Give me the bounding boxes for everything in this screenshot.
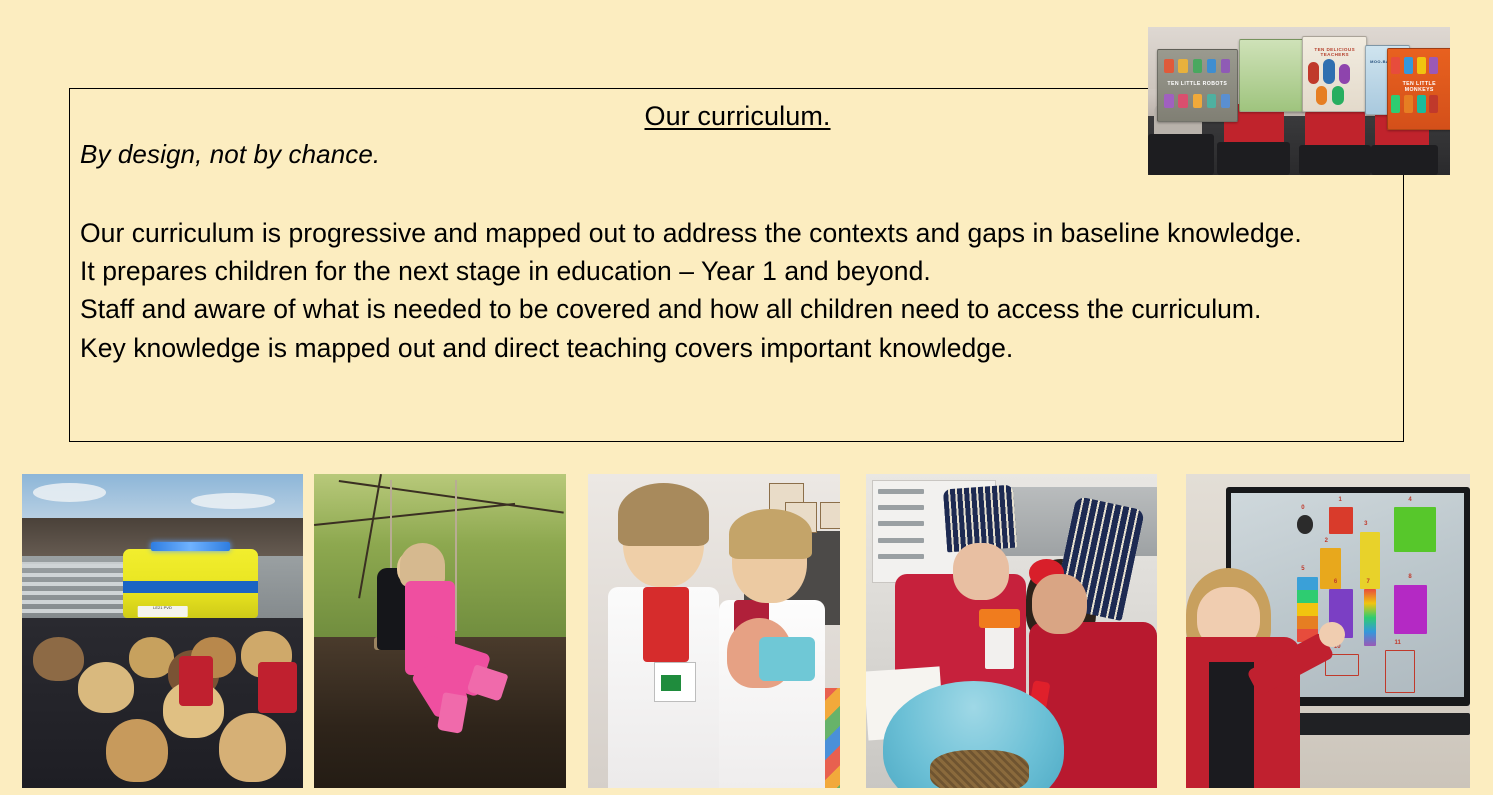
book-ten-little-robots: TEN LITTLE ROBOTS: [1157, 49, 1238, 122]
photo-children-reading: TEN LITTLE ROBOTS TEN DELICIOUS TEACHERS…: [1148, 27, 1450, 175]
number-label-1: 1: [1339, 497, 1342, 503]
cloud-2: [191, 493, 275, 509]
book-ten-little-monkeys: TEN LITTLE MONKEYS: [1387, 48, 1450, 130]
child-legs-3: [1299, 145, 1371, 175]
body-line-4: Key knowledge is mapped out and direct t…: [80, 329, 1395, 367]
book-title-2: TEN DELICIOUS TEACHERS: [1306, 47, 1364, 57]
child-head: [106, 719, 168, 782]
police-car-number-plate: LE21 PVD: [137, 606, 188, 617]
body-line-3: Staff and aware of what is needed to be …: [80, 290, 1395, 328]
photo-numberblocks-whiteboard: 0 1 2 3 4 5 6 7 8 10 11: [1186, 474, 1470, 788]
child-head: [78, 662, 134, 712]
numberblock-11: [1385, 650, 1415, 693]
number-label-7: 7: [1367, 579, 1370, 585]
child-legs-2: [1217, 142, 1289, 175]
photo-rope-swing: [314, 474, 566, 788]
numberblock-0: [1297, 515, 1313, 533]
red-polo-shirt: [643, 587, 688, 662]
book-title-4: TEN LITTLE MONKEYS: [1390, 81, 1448, 93]
cake-mixture: [930, 750, 1029, 788]
wall-photo-frame: [820, 502, 840, 529]
orange-lid: [979, 609, 1020, 628]
number-label-2: 2: [1325, 538, 1328, 544]
slide-canvas: Our curriculum. By design, not by chance…: [0, 0, 1493, 795]
child-head: [33, 637, 84, 681]
numberblock-1: [1329, 507, 1352, 534]
numberblock-7: [1364, 589, 1376, 646]
child-legs-4: [1371, 145, 1437, 175]
book-ten-delicious-teachers: TEN DELICIOUS TEACHERS: [1302, 36, 1367, 112]
numberblock-2: [1320, 548, 1341, 589]
number-label-3: 3: [1364, 521, 1367, 527]
body-line-2: It prepares children for the next stage …: [80, 252, 1395, 290]
child-head: [129, 637, 174, 678]
photo-children-baking: [866, 474, 1157, 788]
numberblock-8: [1394, 585, 1427, 634]
police-car-lightbar: [151, 542, 230, 551]
book-spread-left: [1239, 39, 1304, 112]
body-line-1: Our curriculum is progressive and mapped…: [80, 214, 1395, 252]
child-face-2: [1032, 574, 1087, 634]
number-label-11: 11: [1394, 640, 1400, 646]
photo-police-car-visit: LE21 PVD: [22, 474, 303, 788]
book-title-1: TEN LITTLE ROBOTS: [1161, 81, 1233, 87]
pinafore-dress: [1209, 662, 1254, 788]
storage-tray: [878, 505, 924, 510]
child-legs-1: [1148, 134, 1214, 175]
child-face-1: [953, 543, 1008, 600]
storage-tray: [878, 538, 924, 543]
numberblock-5: [1297, 577, 1318, 642]
police-car-blue-stripe: [123, 581, 258, 594]
photo-doctor-role-play: [588, 474, 840, 788]
number-label-8: 8: [1408, 574, 1411, 580]
doll-dress: [759, 637, 814, 681]
child-head: [219, 713, 286, 782]
number-label-4: 4: [1408, 497, 1411, 503]
red-jumper: [179, 656, 213, 706]
body-text-block: Our curriculum is progressive and mapped…: [80, 214, 1395, 367]
red-jumper: [258, 662, 297, 712]
number-label-5: 5: [1301, 566, 1304, 572]
page-title: Our curriculum.: [644, 101, 830, 131]
storage-tray: [878, 521, 924, 526]
swing-rope-right: [455, 480, 457, 631]
number-label-0: 0: [1301, 505, 1304, 511]
child-hair-1: [618, 483, 709, 546]
chef-hat-1: [942, 484, 1016, 552]
child-hair-2: [729, 509, 812, 559]
green-cross-icon: [661, 675, 681, 691]
storage-tray: [878, 489, 924, 494]
numberblock-4: [1394, 507, 1436, 552]
pointing-hand: [1319, 622, 1345, 647]
number-label-6: 6: [1334, 579, 1337, 585]
storage-tray: [878, 554, 924, 559]
